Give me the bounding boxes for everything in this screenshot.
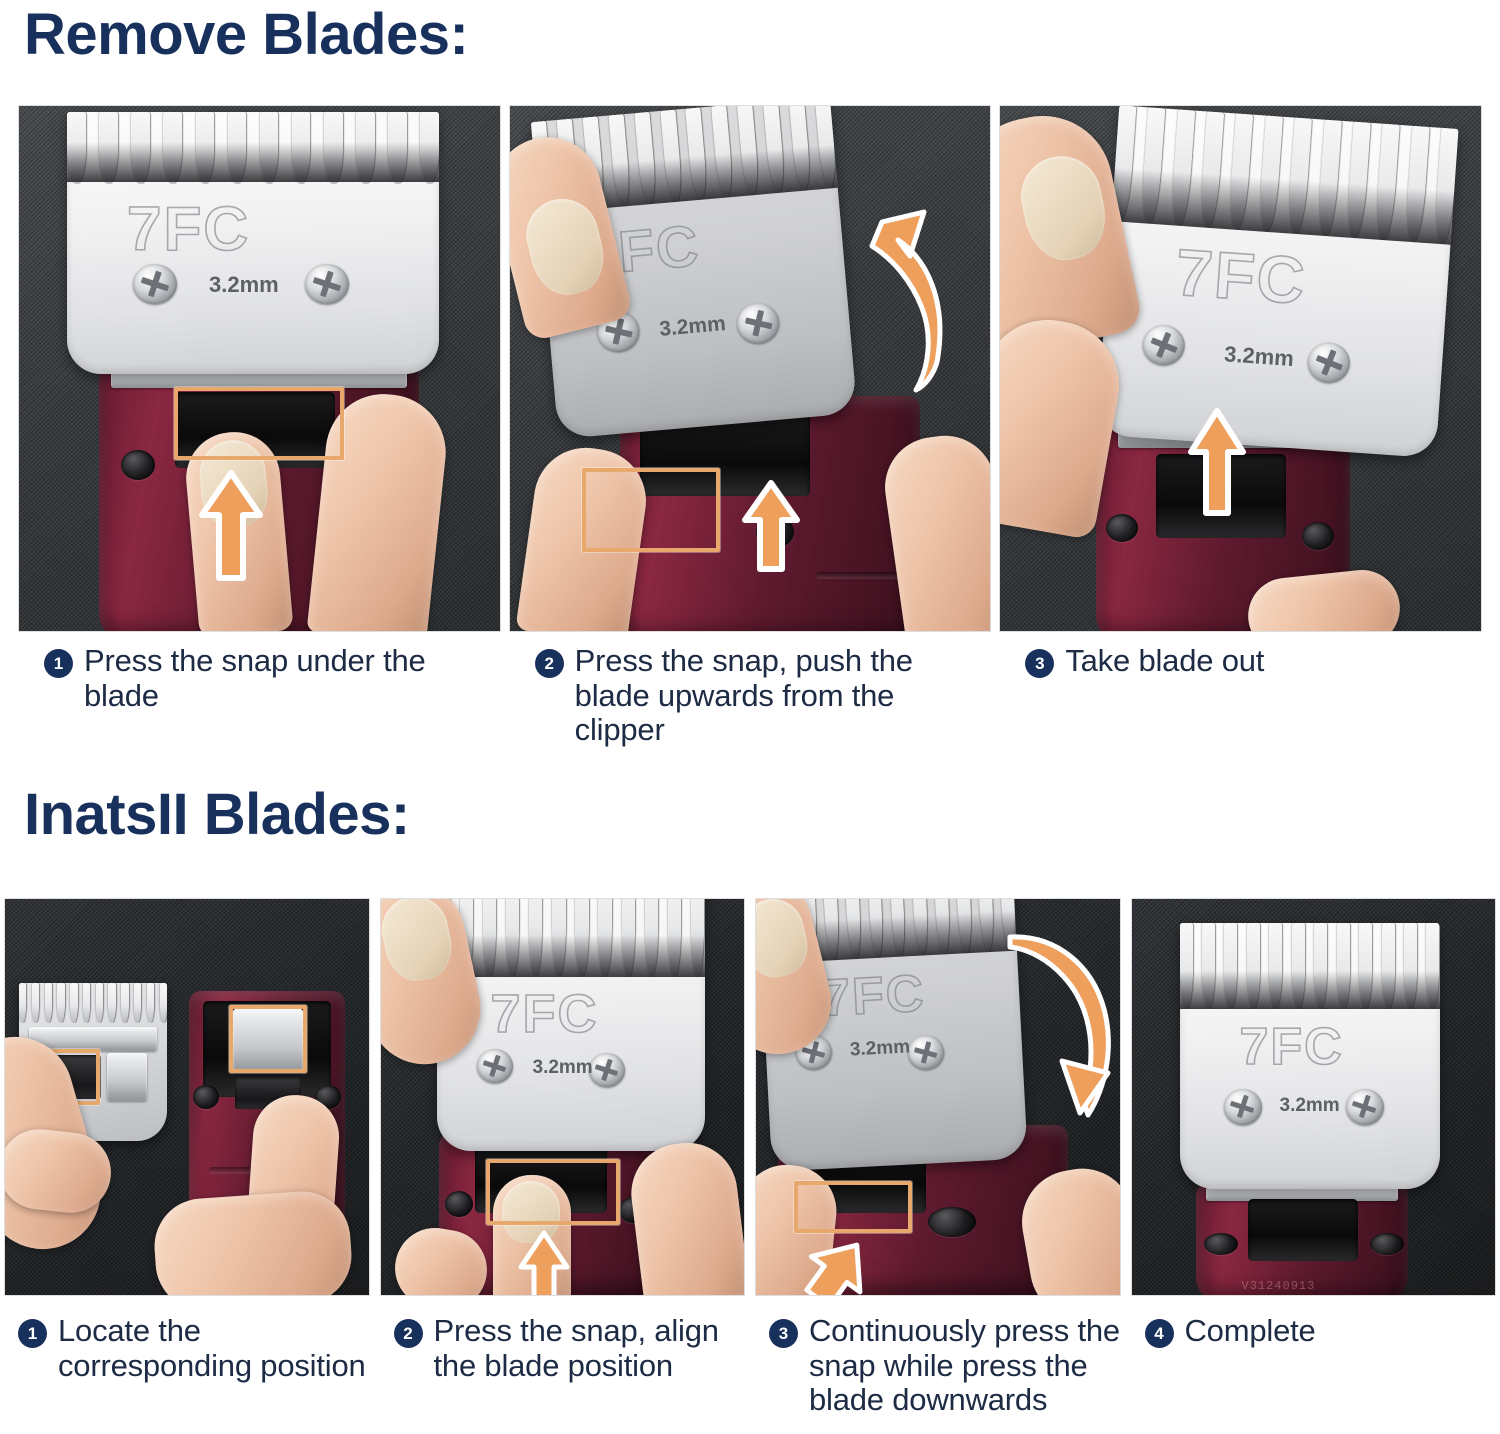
blade-engraving-7fc: 7FC [820, 963, 927, 1028]
page-heading-remove-blades: Remove Blades: [24, 6, 468, 64]
clipper-snap-socket [1248, 1199, 1358, 1261]
thumbnail [1014, 149, 1114, 267]
clipper-screw-hole-left [1204, 1233, 1238, 1255]
blade-size-label: 3.2mm [209, 272, 279, 298]
step-number-badge: 4 [1145, 1319, 1174, 1348]
teeth-shadow [437, 935, 705, 977]
photo-panel-install-step-2: 7FC 3.2mm [380, 898, 746, 1296]
step-number-badge: 2 [535, 649, 564, 678]
blade-engraving-7fc: 7FC [127, 194, 250, 265]
caption-remove-step-2: 2 Press the snap, push the blade upwards… [509, 644, 992, 748]
caption-text: Press the snap under the blade [84, 644, 501, 713]
step-number-badge: 3 [769, 1319, 798, 1348]
hand-gripping-clipper [151, 1188, 354, 1296]
blade-screw-right [589, 1053, 625, 1087]
blade-screw-right [305, 264, 349, 304]
clipper-screw-hole-left [193, 1085, 219, 1109]
clipper-blade: 7FC 3.2mm [67, 112, 439, 374]
photo-panel-remove-step-3: 7FC 3.2mm [999, 105, 1482, 632]
caption-text: Complete [1185, 1314, 1316, 1349]
step-number-badge: 1 [18, 1319, 47, 1348]
highlight-rectangle-snap-area [794, 1181, 912, 1233]
highlight-square-clipper-socket [229, 1005, 307, 1073]
highlight-rectangle-snap-area [582, 468, 720, 552]
thumbnail [755, 898, 814, 983]
page-heading-install-blades: InatsII Blades: [24, 786, 410, 844]
blade-size-label: 3.2mm [849, 1036, 910, 1061]
orange-up-arrow [517, 1229, 571, 1296]
clipper-serial-text: V31240913 [1242, 1279, 1316, 1293]
photo-panel-remove-step-2: 7FC 3.2mm [509, 105, 992, 632]
install-blades-caption-row: 1 Locate the corresponding position 2 Pr… [4, 1314, 1496, 1418]
blade-size-label: 3.2mm [1280, 1095, 1340, 1117]
photo-panel-install-step-4: V31240913 7FC 3.2mm [1131, 898, 1497, 1296]
step-number-badge: 1 [44, 649, 73, 678]
highlight-rectangle-snap-area [486, 1159, 620, 1225]
install-blades-photo-row: 7FC 3.2mm [4, 898, 1496, 1296]
clipper-serial-text [1138, 606, 1146, 620]
orange-up-arrow [197, 468, 265, 584]
blade-screw-right [907, 1035, 945, 1071]
caption-install-step-2: 2 Press the snap, align the blade positi… [380, 1314, 746, 1418]
clipper-serial-text [133, 612, 141, 626]
clipper-screw-hole-left [121, 450, 155, 480]
caption-text: Take blade out [1065, 644, 1264, 679]
remove-blades-photo-row: 7FC 3.2mm [18, 105, 1482, 632]
orange-curved-arrow-up-left [842, 198, 972, 398]
teeth-shadow [67, 142, 439, 182]
blade-bracket [107, 1053, 147, 1101]
caption-remove-step-1: 1 Press the snap under the blade [18, 644, 501, 748]
thumbnail [380, 898, 458, 986]
step-number-badge: 2 [394, 1319, 423, 1348]
clipper-screw-hole-right [1302, 522, 1334, 550]
blade-comb-teeth [19, 983, 167, 1023]
blade-size-label: 3.2mm [658, 312, 726, 342]
caption-remove-step-3: 3 Take blade out [999, 644, 1482, 748]
clipper-screw-hole-left [445, 1191, 473, 1217]
blade-size-label: 3.2mm [533, 1057, 593, 1079]
orange-curved-arrow-down-right [996, 923, 1118, 1131]
clipper-screw-hole [928, 1207, 976, 1237]
remove-blades-caption-row: 1 Press the snap under the blade 2 Press… [18, 644, 1482, 748]
caption-text: Locate the corresponding position [58, 1314, 370, 1383]
blade-engraving-7fc: 7FC [491, 983, 599, 1045]
clipper-blade: 7FC 3.2mm [1097, 105, 1459, 458]
caption-text: Continuously press the snap while press … [809, 1314, 1121, 1418]
clipper-screw-hole-right [1370, 1233, 1404, 1255]
photo-panel-install-step-1 [4, 898, 370, 1296]
blade-screw-left [477, 1049, 513, 1083]
thumbnail [518, 191, 611, 302]
clipper-body: V31240913 [1196, 1183, 1408, 1296]
caption-text: Press the snap, push the blade upwards f… [575, 644, 992, 748]
clipper-blade: 7FC 3.2mm [1180, 923, 1440, 1189]
highlight-rectangle-snap-area [174, 387, 344, 460]
caption-text: Press the snap, align the blade position [434, 1314, 746, 1383]
caption-install-step-1: 1 Locate the corresponding position [4, 1314, 370, 1418]
teeth-shadow [1180, 971, 1440, 1009]
blade-size-label: 3.2mm [1224, 341, 1295, 372]
blade-engraving-7fc: 7FC [1174, 234, 1310, 319]
blade-screw-left [1224, 1089, 1262, 1125]
blade-screw-right [1307, 341, 1352, 384]
blade-screw-right [1346, 1089, 1384, 1125]
photo-panel-install-step-3: 7FC 3.2mm [755, 898, 1121, 1296]
blade-screw-left [133, 264, 177, 304]
photo-panel-remove-step-1: 7FC 3.2mm [18, 105, 501, 632]
step-number-badge: 3 [1025, 649, 1054, 678]
orange-up-arrow [740, 478, 802, 574]
blade-screw-right [735, 301, 780, 345]
blade-screw-left [1142, 324, 1187, 367]
caption-install-step-4: 4 Complete [1131, 1314, 1497, 1418]
clipper-screw-hole-left [1106, 514, 1138, 542]
blade-engraving-7fc: 7FC [1240, 1017, 1344, 1077]
caption-install-step-3: 3 Continuously press the snap while pres… [755, 1314, 1121, 1418]
orange-up-arrow [1186, 406, 1248, 518]
